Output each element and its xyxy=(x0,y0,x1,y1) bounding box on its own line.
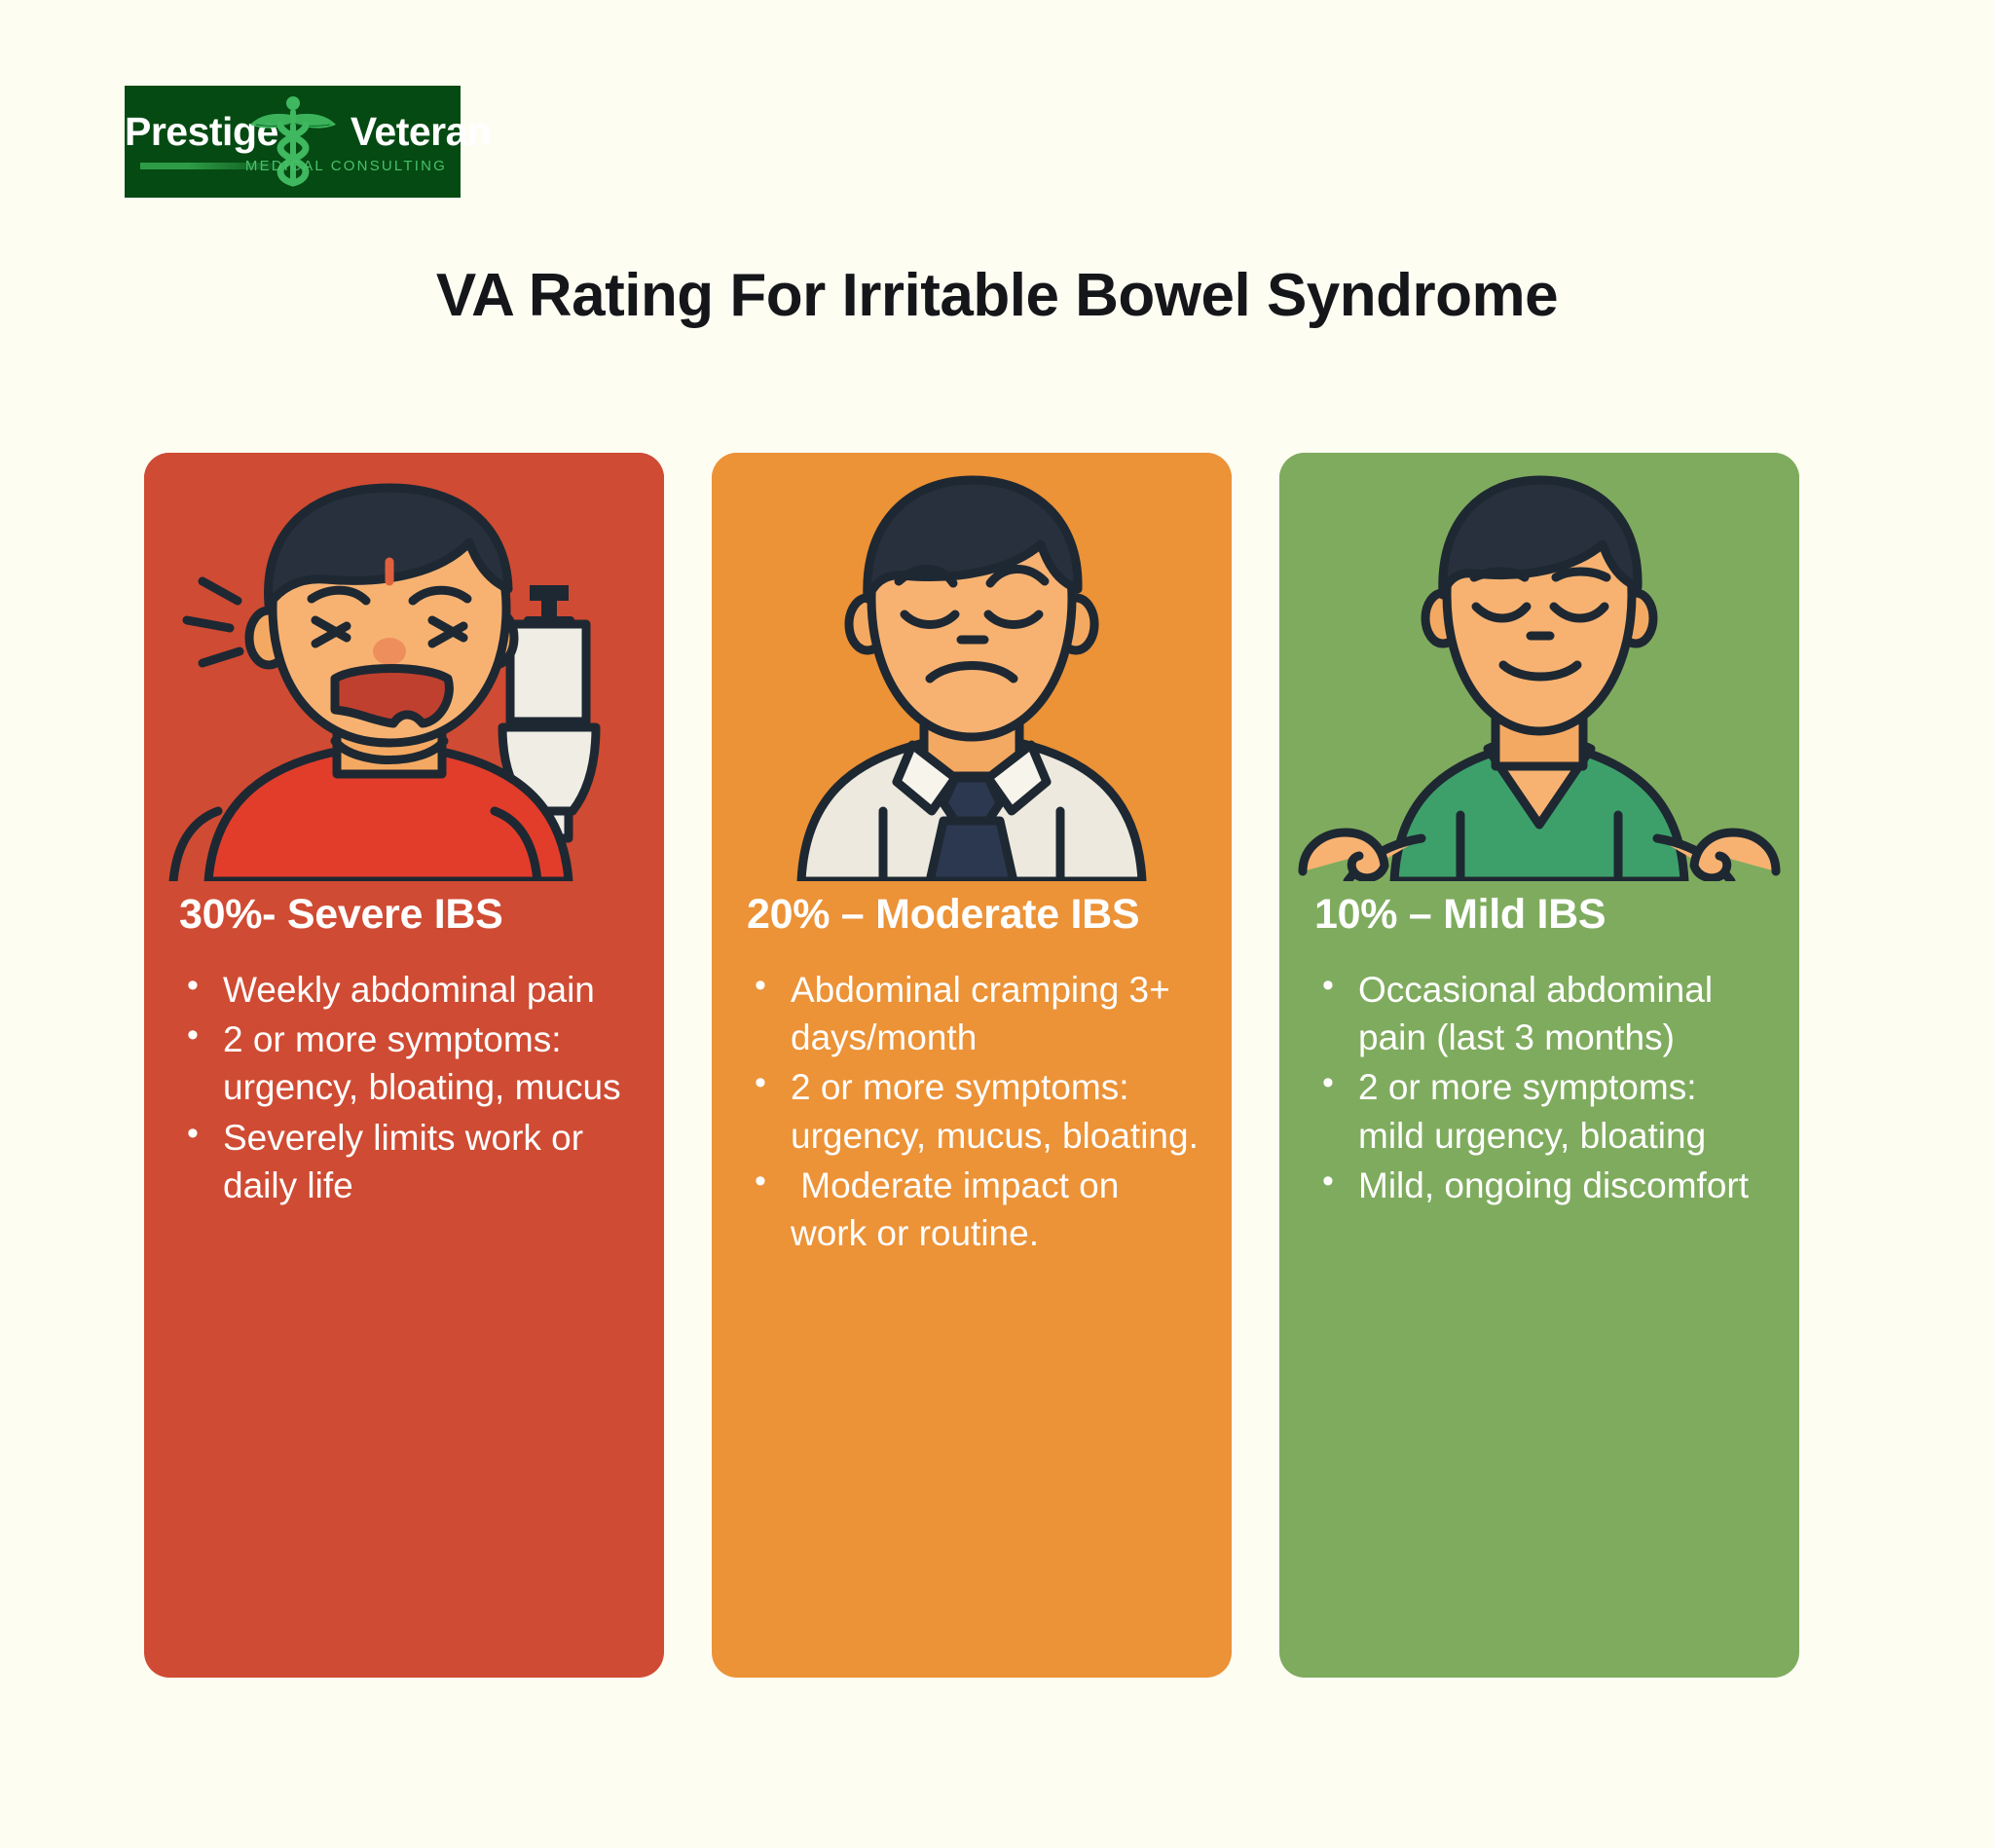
logo-inner: PrestigeVeteran MEDICAL CONSULTING xyxy=(125,86,461,198)
list-item: Abdominal cramping 3+ days/month xyxy=(747,966,1200,1061)
list-item: 2 or more symptoms: urgency, bloating, m… xyxy=(179,1016,633,1111)
card-bullets-severe: Weekly abdominal pain 2 or more symptoms… xyxy=(179,966,633,1209)
rating-cards-row: 30%- Severe IBS Weekly abdominal pain 2 … xyxy=(144,453,1916,1678)
rating-card-severe: 30%- Severe IBS Weekly abdominal pain 2 … xyxy=(144,453,664,1678)
infographic-page: PrestigeVeteran MEDICAL CONSULTING VA Ra… xyxy=(0,0,1994,1848)
list-item: Occasional abdominal pain (last 3 months… xyxy=(1314,966,1768,1061)
calm-meditating-man-illustration xyxy=(1279,453,1799,881)
list-item: 2 or more symptoms: urgency, mucus, bloa… xyxy=(747,1063,1200,1159)
card-bullets-moderate: Abdominal cramping 3+ days/month 2 or mo… xyxy=(747,966,1200,1257)
list-item: Weekly abdominal pain xyxy=(179,966,633,1014)
page-title: VA Rating For Irritable Bowel Syndrome xyxy=(0,261,1994,330)
list-item: Mild, ongoing discomfort xyxy=(1314,1162,1768,1209)
card-heading-mild: 10% – Mild IBS xyxy=(1314,885,1768,944)
company-logo: PrestigeVeteran MEDICAL CONSULTING xyxy=(125,86,461,198)
list-item: Moderate impact on work or routine. xyxy=(747,1162,1200,1257)
card-heading-severe: 30%- Severe IBS xyxy=(179,885,633,944)
list-item: 2 or more symptoms: mild urgency, bloati… xyxy=(1314,1063,1768,1159)
logo-tagline: MEDICAL CONSULTING xyxy=(245,158,447,174)
sad-man-in-shirt-and-tie-illustration xyxy=(712,453,1232,881)
rating-card-mild: 10% – Mild IBS Occasional abdominal pain… xyxy=(1279,453,1799,1678)
logo-word-veteran: Veteran xyxy=(351,109,492,154)
rating-card-moderate: 20% – Moderate IBS Abdominal cramping 3+… xyxy=(712,453,1232,1678)
card-bullets-mild: Occasional abdominal pain (last 3 months… xyxy=(1314,966,1768,1209)
card-body-moderate: 20% – Moderate IBS Abdominal cramping 3+… xyxy=(712,881,1232,1259)
distressed-man-with-toilet-illustration xyxy=(144,453,664,881)
card-body-severe: 30%- Severe IBS Weekly abdominal pain 2 … xyxy=(144,881,664,1211)
card-body-mild: 10% – Mild IBS Occasional abdominal pain… xyxy=(1279,881,1799,1211)
card-heading-moderate: 20% – Moderate IBS xyxy=(747,885,1200,944)
list-item: Severely limits work or daily life xyxy=(179,1114,633,1209)
